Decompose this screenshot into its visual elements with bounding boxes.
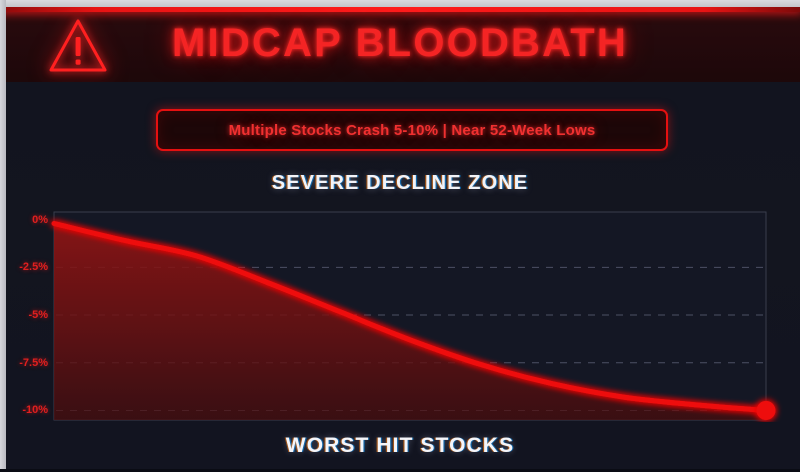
y-tick-label: 0% <box>32 214 48 226</box>
window-edge-top <box>0 0 800 7</box>
end-point-marker[interactable] <box>757 401 776 420</box>
decline-chart: 0% -2.5% -5% -7.5% -10% <box>0 207 800 422</box>
chart-x-axis-label: WORST HIT STOCKS <box>0 434 800 458</box>
chart-plot-area <box>0 207 800 422</box>
header-accent-bar <box>0 7 800 12</box>
header-banner: MIDCAP BLOODBATH <box>0 7 800 82</box>
y-tick-label: -5% <box>28 309 48 321</box>
y-tick-label: -10% <box>22 404 48 416</box>
crash-alert-banner[interactable]: Multiple Stocks Crash 5-10% | Near 52-We… <box>156 109 668 151</box>
crash-alert-text: Multiple Stocks Crash 5-10% | Near 52-We… <box>229 122 596 139</box>
chart-title: SEVERE DECLINE ZONE <box>0 172 800 195</box>
page-title: MIDCAP BLOODBATH <box>0 21 800 66</box>
y-tick-label: -2.5% <box>19 261 48 273</box>
main-content: Multiple Stocks Crash 5-10% | Near 52-We… <box>0 82 800 472</box>
y-tick-label: -7.5% <box>19 357 48 369</box>
alert-dashboard: MIDCAP BLOODBATH Multiple Stocks Crash 5… <box>0 0 800 472</box>
window-edge-left <box>0 0 6 472</box>
y-axis-tick-labels: 0% -2.5% -5% -7.5% -10% <box>0 207 48 422</box>
